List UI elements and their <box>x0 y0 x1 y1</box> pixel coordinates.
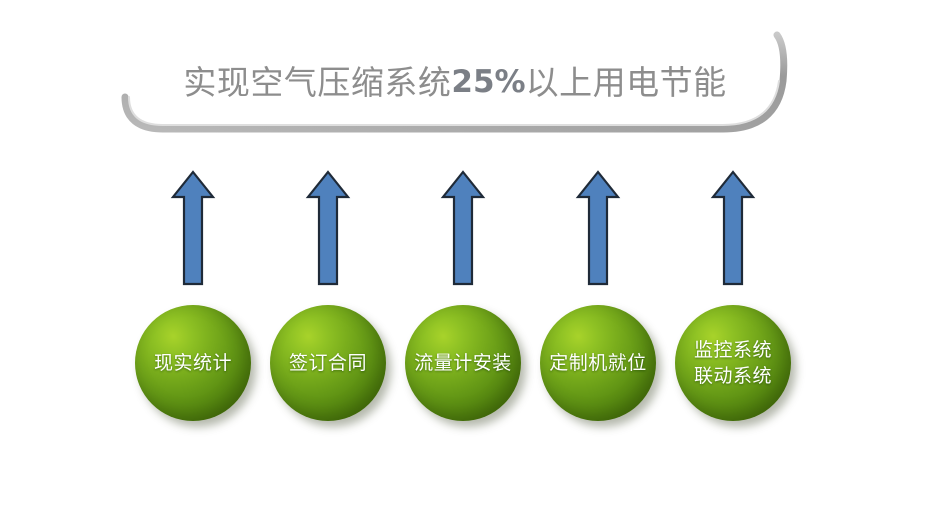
process-node-1[interactable]: 现实统计 <box>135 305 251 421</box>
green-sphere <box>540 305 656 421</box>
process-node-3[interactable]: 流量计安装 <box>405 305 521 421</box>
green-sphere <box>675 305 791 421</box>
slide-canvas: 实现空气压缩系统25%以上用电节能 现实统计 <box>0 0 945 529</box>
up-arrow-icon-5 <box>711 170 755 286</box>
title-banner: 实现空气压缩系统25%以上用电节能 <box>123 33 787 132</box>
arrow-shape <box>713 172 753 284</box>
process-node-2[interactable]: 签订合同 <box>270 305 386 421</box>
green-sphere <box>270 305 386 421</box>
process-node-5[interactable]: 监控系统 联动系统 <box>675 305 791 421</box>
arrow-shape <box>173 172 213 284</box>
title-percentage: 25% <box>451 67 525 98</box>
arrow-shape <box>578 172 618 284</box>
green-sphere <box>135 305 251 421</box>
up-arrow-icon-2 <box>306 170 350 286</box>
arrow-shape <box>308 172 348 284</box>
process-node-4[interactable]: 定制机就位 <box>540 305 656 421</box>
title-part-2: 以上用电节能 <box>526 66 727 99</box>
up-arrow-icon-4 <box>576 170 620 286</box>
title-part-1: 实现空气压缩系统 <box>183 66 451 99</box>
green-sphere <box>405 305 521 421</box>
page-title: 实现空气压缩系统25%以上用电节能 <box>123 33 787 132</box>
up-arrow-icon-3 <box>441 170 485 286</box>
up-arrow-icon-1 <box>171 170 215 286</box>
arrow-shape <box>443 172 483 284</box>
